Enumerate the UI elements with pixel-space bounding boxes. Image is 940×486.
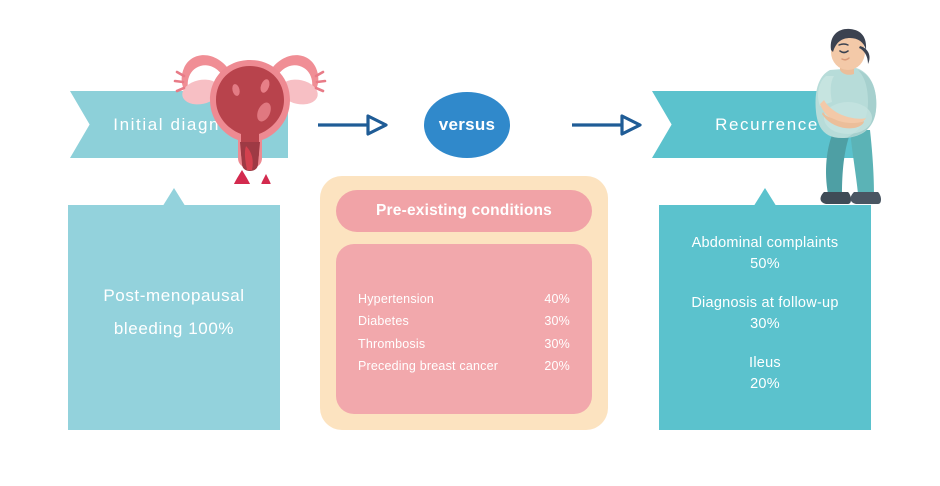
post-menopausal-line-2: bleeding 100% (103, 312, 244, 345)
arrow-right-icon-2 (572, 112, 644, 138)
condition-name: Hypertension (358, 288, 434, 310)
list-item: Preceding breast cancer 20% (358, 355, 570, 377)
panel-initial-diagnosis-text: Post-menopausal bleeding 100% (103, 279, 244, 345)
recurrence-name: Ileus (659, 353, 871, 374)
banner-initial-diagnosis-label: Initial diagnosis (101, 115, 256, 135)
recurrence-name: Diagnosis at follow-up (659, 293, 871, 314)
versus-badge-label: versus (439, 115, 496, 135)
list-item: Diagnosis at follow-up 30% (659, 293, 871, 335)
card-pre-existing-conditions-title-pill: Pre-existing conditions (336, 190, 592, 232)
condition-name: Thrombosis (358, 333, 425, 355)
condition-percent: 30% (544, 333, 570, 355)
infographic-canvas: Initial diagnosis versus Recurrence Post… (0, 0, 940, 486)
condition-percent: 40% (544, 288, 570, 310)
versus-badge: versus (424, 92, 510, 158)
condition-name: Diabetes (358, 310, 409, 332)
list-item: Diabetes 30% (358, 310, 570, 332)
post-menopausal-line-1: Post-menopausal (103, 279, 244, 312)
list-item: Abdominal complaints 50% (659, 233, 871, 275)
panel-recurrence: Abdominal complaints 50% Diagnosis at fo… (659, 188, 871, 430)
arrow-right-icon-1 (318, 112, 390, 138)
card-pre-existing-conditions: Pre-existing conditions Hypertension 40%… (320, 176, 608, 430)
banner-initial-diagnosis: Initial diagnosis (70, 91, 288, 158)
panel-initial-diagnosis: Post-menopausal bleeding 100% (68, 188, 280, 430)
condition-percent: 30% (544, 310, 570, 332)
banner-recurrence: Recurrence (652, 91, 870, 158)
recurrence-list: Abdominal complaints 50% Diagnosis at fo… (659, 233, 871, 395)
pre-existing-conditions-list: Hypertension 40% Diabetes 30% Thrombosis… (336, 244, 592, 414)
recurrence-percent: 50% (659, 254, 871, 275)
recurrence-percent: 20% (659, 374, 871, 395)
card-pre-existing-conditions-title: Pre-existing conditions (376, 202, 552, 220)
recurrence-percent: 30% (659, 314, 871, 335)
list-item: Thrombosis 30% (358, 333, 570, 355)
list-item: Ileus 20% (659, 353, 871, 395)
condition-name: Preceding breast cancer (358, 355, 498, 377)
recurrence-name: Abdominal complaints (659, 233, 871, 254)
banner-recurrence-label: Recurrence (703, 115, 819, 135)
list-item: Hypertension 40% (358, 288, 570, 310)
condition-percent: 20% (544, 355, 570, 377)
